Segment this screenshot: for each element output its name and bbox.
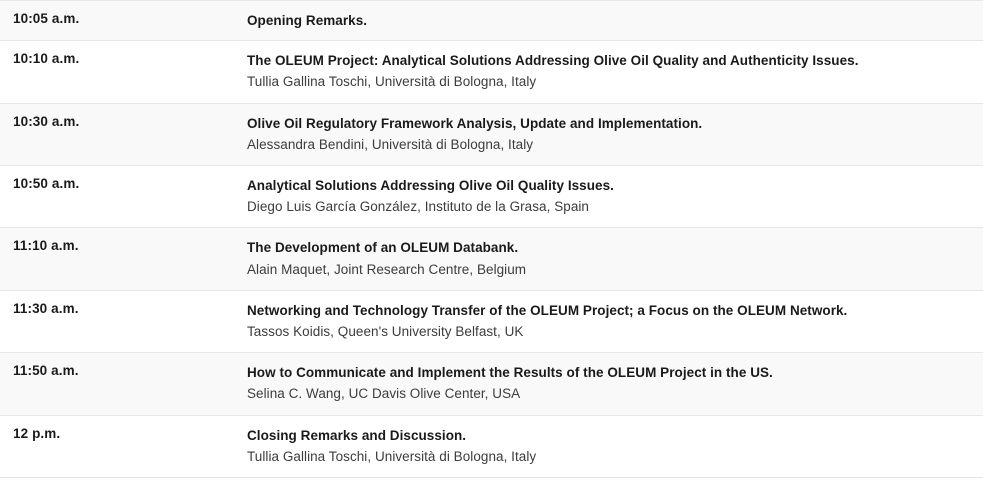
session-title: Analytical Solutions Addressing Olive Oi… [247, 176, 969, 195]
table-row: 11:10 a.m.The Development of an OLEUM Da… [0, 228, 983, 290]
session-time: 12 p.m. [0, 415, 247, 477]
session-title: The OLEUM Project: Analytical Solutions … [247, 51, 969, 70]
session-speaker: Diego Luis García González, Instituto de… [247, 197, 969, 217]
session-details: Opening Remarks. [247, 1, 983, 41]
table-row: 10:30 a.m.Olive Oil Regulatory Framework… [0, 103, 983, 165]
session-speaker: Alessandra Bendini, Università di Bologn… [247, 135, 969, 155]
session-details: Analytical Solutions Addressing Olive Oi… [247, 165, 983, 227]
session-time: 11:10 a.m. [0, 228, 247, 290]
session-details: Networking and Technology Transfer of th… [247, 290, 983, 352]
session-details: How to Communicate and Implement the Res… [247, 353, 983, 415]
session-time: 10:30 a.m. [0, 103, 247, 165]
session-title: Olive Oil Regulatory Framework Analysis,… [247, 114, 969, 133]
session-speaker: Selina C. Wang, UC Davis Olive Center, U… [247, 384, 969, 404]
table-row: 11:30 a.m.Networking and Technology Tran… [0, 290, 983, 352]
session-time: 10:05 a.m. [0, 1, 247, 41]
session-speaker: Tullia Gallina Toschi, Università di Bol… [247, 447, 969, 467]
table-row: 12 p.m.Closing Remarks and Discussion.Tu… [0, 415, 983, 477]
session-details: Closing Remarks and Discussion.Tullia Ga… [247, 415, 983, 477]
schedule-table: 10:05 a.m.Opening Remarks.10:10 a.m.The … [0, 0, 983, 478]
session-time: 10:50 a.m. [0, 165, 247, 227]
session-speaker: Tullia Gallina Toschi, Università di Bol… [247, 72, 969, 92]
table-row: 10:05 a.m.Opening Remarks. [0, 1, 983, 41]
session-details: The OLEUM Project: Analytical Solutions … [247, 41, 983, 103]
table-row: 10:50 a.m.Analytical Solutions Addressin… [0, 165, 983, 227]
table-row: 10:10 a.m.The OLEUM Project: Analytical … [0, 41, 983, 103]
session-time: 10:10 a.m. [0, 41, 247, 103]
session-speaker: Alain Maquet, Joint Research Centre, Bel… [247, 260, 969, 280]
schedule-body: 10:05 a.m.Opening Remarks.10:10 a.m.The … [0, 1, 983, 478]
session-title: Opening Remarks. [247, 11, 969, 30]
session-title: How to Communicate and Implement the Res… [247, 363, 969, 382]
session-title: Closing Remarks and Discussion. [247, 426, 969, 445]
table-row: 11:50 a.m.How to Communicate and Impleme… [0, 353, 983, 415]
session-time: 11:50 a.m. [0, 353, 247, 415]
session-title: The Development of an OLEUM Databank. [247, 238, 969, 257]
session-details: The Development of an OLEUM Databank.Ala… [247, 228, 983, 290]
session-details: Olive Oil Regulatory Framework Analysis,… [247, 103, 983, 165]
session-time: 11:30 a.m. [0, 290, 247, 352]
session-title: Networking and Technology Transfer of th… [247, 301, 969, 320]
session-speaker: Tassos Koidis, Queen's University Belfas… [247, 322, 969, 342]
